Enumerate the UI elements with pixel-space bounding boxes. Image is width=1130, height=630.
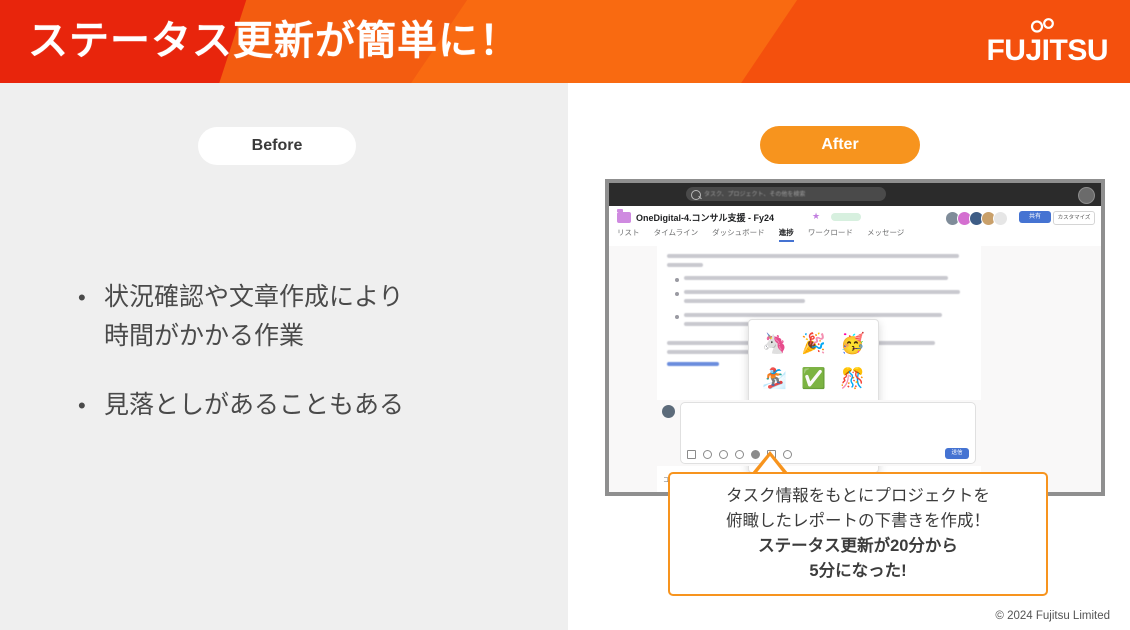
send-button[interactable]: 送信 (945, 448, 969, 459)
left-gutter (609, 246, 658, 492)
copyright: © 2024 Fujitsu Limited (995, 610, 1110, 622)
app-titlebar: タスク、プロジェクト、その他を検索 (609, 183, 1101, 206)
mention-icon[interactable] (703, 450, 712, 459)
bullet-text: 見落としがあることもある (104, 386, 538, 425)
fujitsu-infinity-icon (1030, 18, 1056, 33)
comment-input[interactable]: 送信 (680, 402, 976, 464)
bullet-marker-icon (675, 292, 679, 296)
body-text-line (667, 350, 758, 354)
emoji-icon[interactable] (719, 450, 728, 459)
fujitsu-logo: FUJITSU (978, 20, 1108, 68)
bullet-text: 状況確認や文章作成により 時間がかかる作業 (104, 278, 538, 356)
callout-box: タスク情報をもとにプロジェクトを 俯瞰したレポートの下書きを作成！ ステータス更… (668, 472, 1048, 596)
emoji-option[interactable]: 🎊 (833, 361, 872, 396)
read-more-link[interactable] (667, 362, 719, 366)
avatar (662, 405, 675, 418)
list-item (667, 276, 971, 285)
app-screenshot-mockup: タスク、プロジェクト、その他を検索 OneDigital-4.コンサル支援 - … (605, 179, 1105, 496)
bullet-marker-icon (675, 278, 679, 282)
list-item (667, 290, 971, 308)
emoji-option[interactable]: 🎉 (794, 326, 833, 361)
slide-header: ステータス更新が簡単に！ FUJITSU (0, 0, 1130, 83)
tab-workload[interactable]: ワークロード (808, 228, 853, 237)
tab-messages[interactable]: メッセージ (867, 228, 904, 237)
comment-composer: 送信 (657, 400, 981, 466)
tab-list[interactable]: リスト (617, 228, 640, 237)
search-input[interactable]: タスク、プロジェクト、その他を検索 (686, 187, 886, 201)
customize-button[interactable]: カスタマイズ (1053, 211, 1095, 225)
emoji-option[interactable]: ✅ (794, 361, 833, 396)
tab-progress[interactable]: 進捗 (779, 228, 794, 242)
search-icon (691, 190, 701, 200)
body-text-line (667, 263, 703, 267)
bullet-marker-icon (675, 315, 679, 319)
search-placeholder: タスク、プロジェクト、その他を検索 (704, 189, 805, 198)
before-bullet-list: • 状況確認や文章作成により 時間がかかる作業 • 見落としがあることもある (78, 278, 538, 455)
body-text-line (684, 276, 948, 280)
emoji-option[interactable]: 🦄 (755, 326, 794, 361)
right-sidebar (980, 246, 1101, 492)
body-text-line (684, 290, 960, 294)
star-icon[interactable]: ★ (812, 211, 820, 222)
project-title[interactable]: OneDigital-4.コンサル支援 - Fy24 (636, 211, 774, 224)
status-badge[interactable] (831, 213, 861, 221)
member-avatars[interactable] (948, 211, 1008, 226)
app-body: 🦄 🎉 🥳 🏂 ✅ 🎊 🎈 🚩 ❤️ 🍉 📁 🎄 (609, 246, 1101, 492)
callout-line: 俯瞰したレポートの下書きを作成！ (726, 509, 990, 534)
tab-dashboard[interactable]: ダッシュボード (712, 228, 765, 237)
emoji-option[interactable]: 🥳 (833, 326, 872, 361)
body-text-line (684, 299, 805, 303)
page-title: ステータス更新が簡単に！ (28, 12, 520, 70)
list-item: • 状況確認や文章作成により 時間がかかる作業 (78, 278, 538, 356)
emoji-option[interactable]: 🏂 (755, 361, 794, 396)
app-tabs: リスト タイムライン ダッシュボード 進捗 ワークロード メッセージ (617, 227, 916, 238)
before-badge: Before (198, 127, 356, 165)
avatar-overflow[interactable] (993, 211, 1008, 226)
body-text-line (667, 254, 959, 258)
tab-timeline[interactable]: タイムライン (654, 228, 698, 237)
callout-line-bold: 5分になった! (809, 559, 906, 584)
fujitsu-wordmark: FUJITSU (978, 36, 1108, 66)
body-text-line (684, 313, 942, 317)
app-project-header: OneDigital-4.コンサル支援 - Fy24 ★ リスト タイムライン … (609, 206, 1101, 247)
callout-line-bold: ステータス更新が20分から (758, 534, 958, 559)
image-icon[interactable] (735, 450, 744, 459)
after-badge: After (760, 126, 920, 164)
bullet-marker-icon: • (78, 278, 104, 356)
share-button[interactable]: 共有 (1019, 211, 1051, 223)
folder-icon (617, 212, 631, 223)
avatar[interactable] (1078, 187, 1095, 204)
callout-line: タスク情報をもとにプロジェクトを (726, 484, 990, 509)
bullet-marker-icon: • (78, 386, 104, 425)
attach-icon[interactable] (687, 450, 696, 459)
list-item: • 見落としがあることもある (78, 386, 538, 425)
